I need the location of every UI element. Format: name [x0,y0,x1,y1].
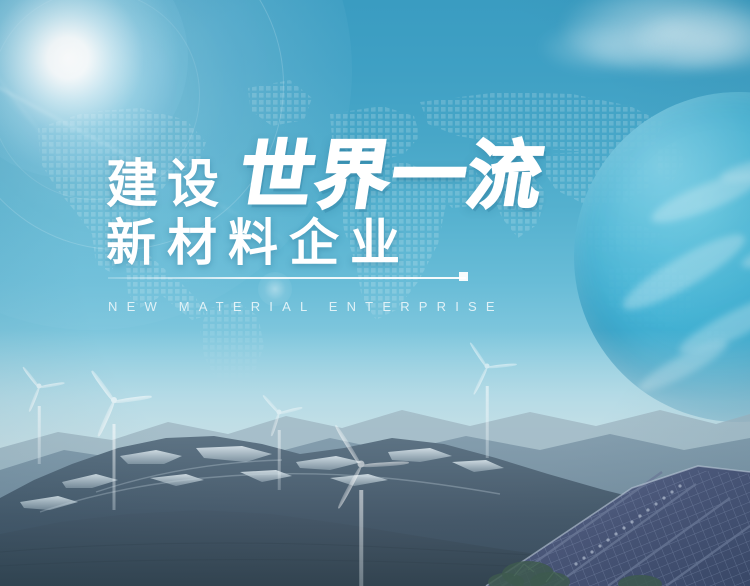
headline-line-2: 新材料企业 [106,218,411,268]
divider-line [108,277,466,279]
divider-end-cap [459,272,468,281]
subtitle-text: NEW MATERIAL ENTERPRISE [108,299,504,314]
headline-prefix: 建设 [106,159,228,211]
hero-banner: 建设 世界一流 新材料企业 NEW MATERIAL ENTERPRISE [0,0,750,586]
headline-emphasis: 世界一流 [234,140,549,211]
headline-block: 建设 世界一流 新材料企业 NEW MATERIAL ENTERPRISE [0,0,750,586]
headline-line-1: 建设 世界一流 [106,140,544,211]
